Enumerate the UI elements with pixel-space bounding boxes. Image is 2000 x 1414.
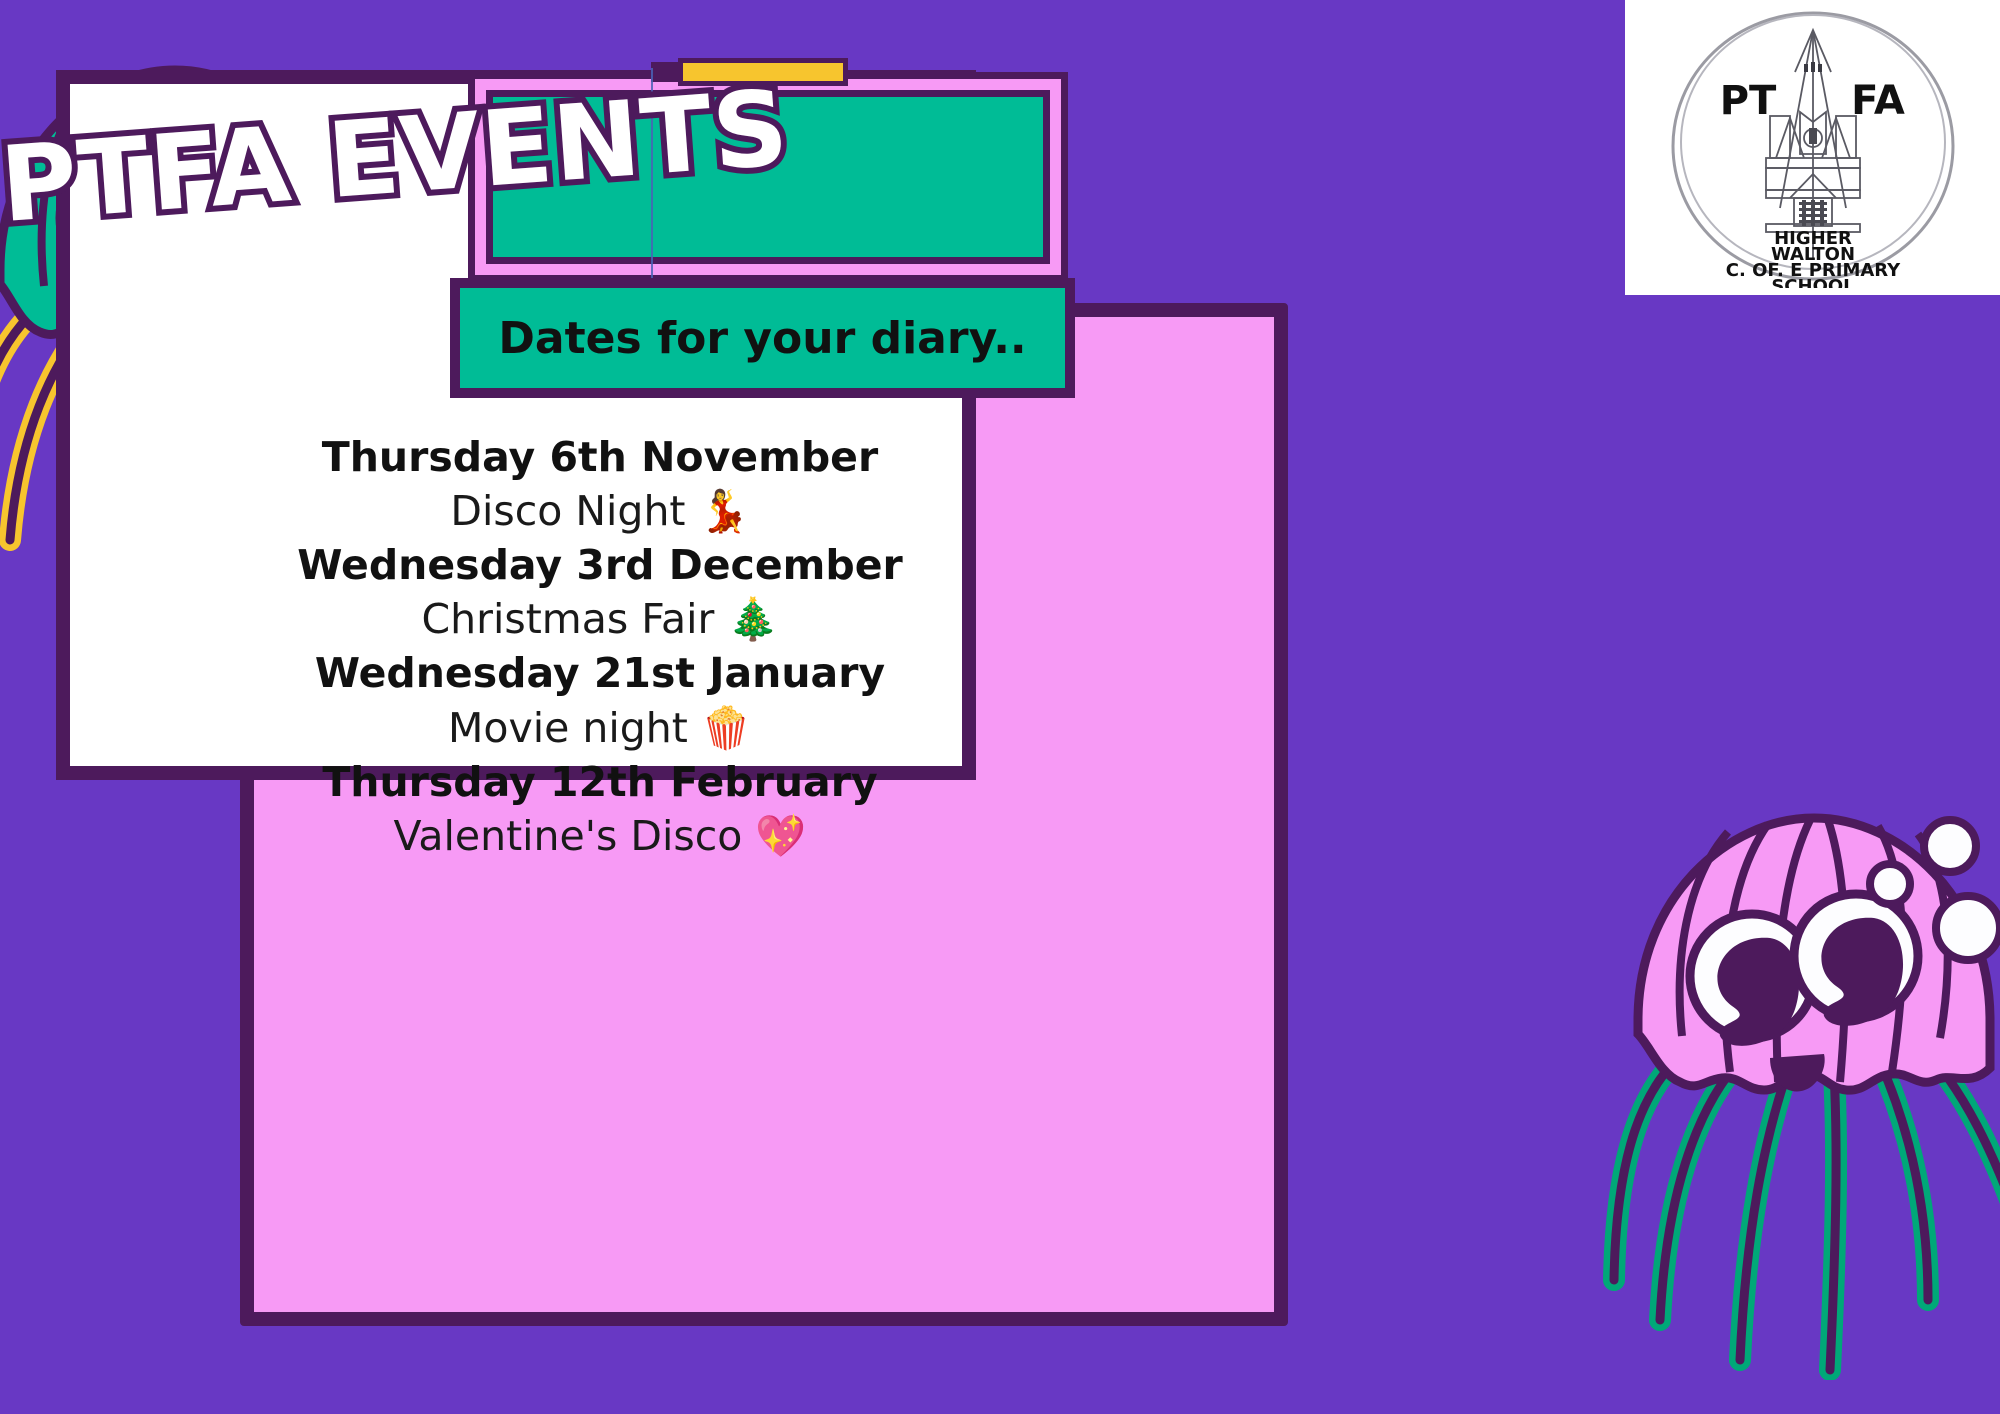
event-emoji-icon: 💖: [742, 812, 806, 860]
logo-initials-left: PT: [1719, 78, 1776, 124]
event-name-label: Movie night: [448, 704, 688, 752]
event-date: Wednesday 3rd December: [60, 538, 1140, 592]
event-emoji-icon: 💃: [686, 487, 750, 535]
event-date: Wednesday 21st January: [60, 646, 1140, 700]
event-emoji-icon: 🍿: [688, 704, 752, 752]
subtitle-text: Dates for your diary..: [498, 313, 1026, 364]
jellyfish-right-decoration: [1580, 780, 2000, 1380]
school-logo: PT FA HIGHER WALTON C. OF. E PRIMARY SCH…: [1625, 0, 2000, 295]
subtitle-banner: Dates for your diary..: [450, 278, 1075, 398]
event-name: Movie night 🍿: [60, 701, 1140, 755]
event-name-label: Valentine's Disco: [394, 812, 743, 860]
event-date: Thursday 12th February: [60, 755, 1140, 809]
event-name: Christmas Fair 🎄: [60, 592, 1140, 646]
event-name: Disco Night 💃: [60, 484, 1140, 538]
events-list: Thursday 6th NovemberDisco Night 💃Wednes…: [60, 430, 1140, 863]
logo-line-4: SCHOOL: [1771, 276, 1854, 288]
event-name: Valentine's Disco 💖: [60, 809, 1140, 863]
event-name-label: Disco Night: [450, 487, 685, 535]
event-name-label: Christmas Fair: [421, 595, 714, 643]
event-date: Thursday 6th November: [60, 430, 1140, 484]
logo-initials-right: FA: [1851, 78, 1905, 124]
event-emoji-icon: 🎄: [714, 595, 778, 643]
